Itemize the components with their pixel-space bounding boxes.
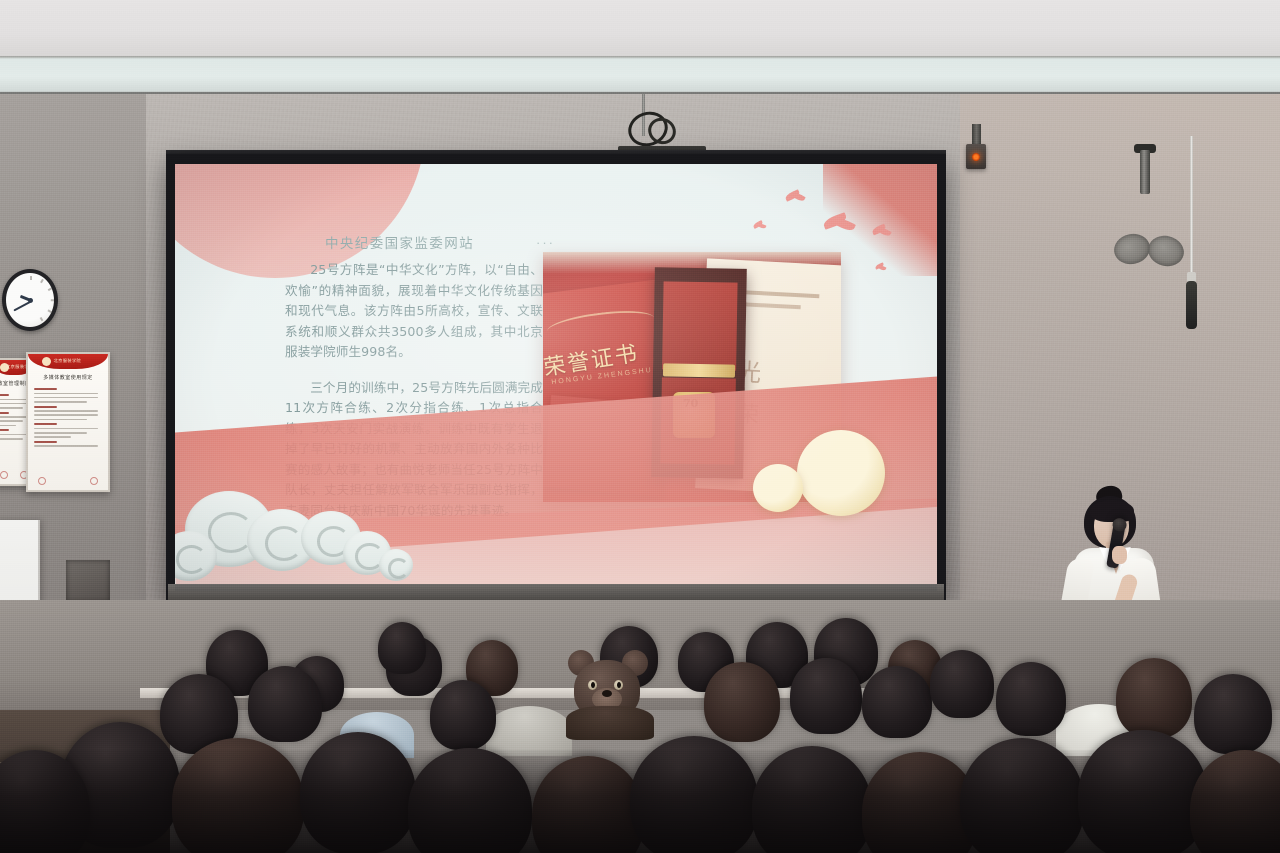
cloud-motif-6 (379, 549, 413, 581)
audience-head (430, 680, 496, 750)
medal-box-lid-lining (662, 281, 738, 370)
wall-clock-icon (2, 269, 58, 331)
medal-ribbon-icon (663, 363, 735, 377)
audience-head (996, 662, 1066, 736)
clock-center-pin (28, 298, 33, 303)
ceiling-beam (0, 56, 1280, 94)
audience-head (862, 666, 932, 738)
bear-body (566, 706, 654, 740)
wall-access-panel (66, 560, 110, 602)
poster-title-2: 多媒体教室使用规定 (28, 374, 108, 381)
poster-seal-left-icon (0, 471, 8, 479)
fan-down-rod (1140, 150, 1150, 194)
audience-shoulders (486, 706, 572, 756)
indicator-light-device (966, 144, 986, 169)
slide-source-title: 中央纪委国家监委网站 (325, 232, 474, 252)
audience-foreground-shadow (0, 750, 1280, 853)
lecture-hall-photo: 北京服装学院 教室管理制度 北京服装学院 多媒体教室使用规定 (0, 0, 1280, 853)
red-led-icon (972, 153, 980, 161)
poster-seal-left-icon-2 (38, 477, 46, 485)
bear-eye-right-icon (614, 680, 623, 690)
bear-eye-left-icon (588, 680, 597, 690)
poster-seal-right-icon-2 (90, 477, 98, 485)
poster-logo-icon-2 (42, 357, 51, 366)
screen-pull-handle[interactable] (1186, 281, 1197, 329)
sensor-mount-bracket (972, 124, 981, 146)
audience-head (930, 650, 994, 718)
more-options-icon: ··· (536, 235, 555, 250)
poster-org-name-2: 北京服装学院 (54, 358, 82, 364)
slide-source-header: 中央纪委国家监委网站 ··· (325, 232, 555, 252)
presenter-hair-front (1090, 500, 1134, 522)
golden-disc-small (753, 464, 803, 512)
audience-head (248, 666, 322, 742)
wall-poster-right: 北京服装学院 多媒体教室使用规定 (26, 352, 110, 492)
audience-area (0, 600, 1280, 853)
presenter-hand-right (1112, 546, 1127, 564)
teddy-bear-plush (562, 646, 658, 736)
bear-nose-icon (602, 690, 612, 697)
presentation-slide: 光 荣 荣誉证书 HONGYU ZHENGSHU 70 (175, 164, 937, 591)
audience-head (790, 658, 862, 734)
golden-disc-large (797, 430, 885, 516)
audience-head (378, 622, 426, 674)
audience-head (1116, 658, 1192, 738)
poster-header-band-2: 北京服装学院 (28, 354, 108, 369)
ceiling (0, 0, 1280, 56)
poster-body-lines-2 (28, 381, 108, 447)
screen-pull-rod[interactable] (1190, 136, 1193, 281)
audience-head (1194, 674, 1272, 754)
slide-paragraph-1: 25号方阵是“中华文化”方阵，以“自由、欢愉”的精神面貌，展现着中华文化传统基因… (285, 260, 543, 363)
audience-head (704, 662, 780, 742)
projection-screen: 光 荣 荣誉证书 HONGYU ZHENGSHU 70 (166, 154, 946, 600)
